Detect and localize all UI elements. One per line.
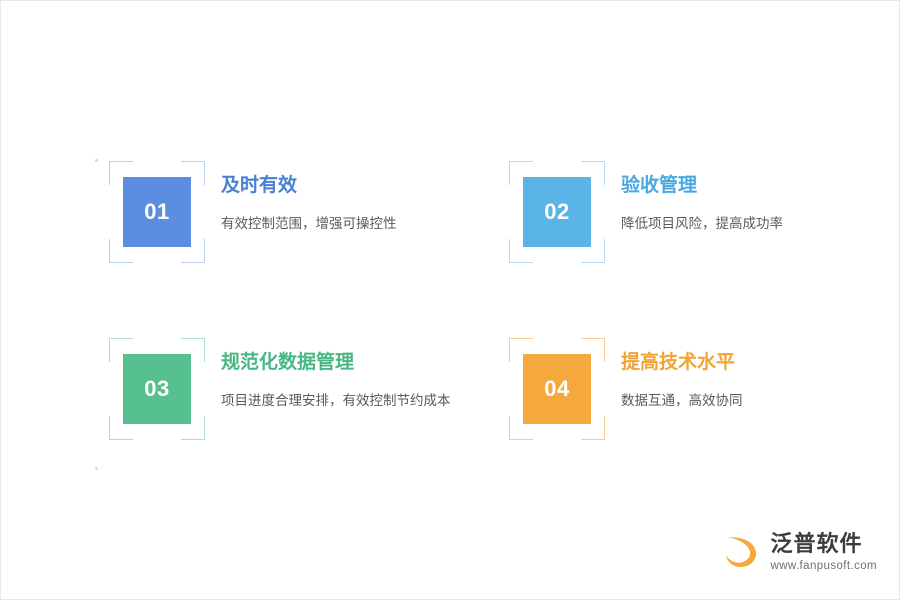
feature-card-03[interactable]: 03 规范化数据管理 项目进度合理安排，有效控制节约成本	[109, 338, 509, 440]
brand-logo-text: 泛普软件 www.fanpusoft.com	[770, 532, 877, 571]
fanpu-logo-icon	[720, 531, 762, 573]
card-text-03: 规范化数据管理 项目进度合理安排，有效控制节约成本	[205, 338, 451, 412]
card-title: 提高技术水平	[621, 352, 743, 375]
badge-frame-03: 03	[109, 338, 205, 440]
card-number-badge: 02	[523, 177, 591, 247]
card-text-01: 及时有效 有效控制范围，增强可操控性	[205, 161, 397, 235]
feature-card-grid: 01 及时有效 有效控制范围，增强可操控性 02 验收管理 降低项目风险，	[109, 161, 869, 440]
card-title: 及时有效	[221, 175, 397, 198]
brand-logo[interactable]: 泛普软件 www.fanpusoft.com	[720, 531, 877, 573]
badge-frame-02: 02	[509, 161, 605, 263]
badge-frame-04: 04	[509, 338, 605, 440]
brand-name: 泛普软件	[770, 532, 877, 556]
feature-card-row-1: 01 及时有效 有效控制范围，增强可操控性 02 验收管理 降低项目风险，	[109, 161, 869, 263]
decorative-dot-bottom-left	[95, 467, 98, 470]
decorative-dot-top-left	[95, 159, 98, 162]
brand-url: www.fanpusoft.com	[770, 560, 877, 572]
card-number-badge: 04	[523, 354, 591, 424]
card-description: 有效控制范围，增强可操控性	[221, 212, 397, 236]
feature-card-04[interactable]: 04 提高技术水平 数据互通，高效协同	[509, 338, 869, 440]
badge-frame-01: 01	[109, 161, 205, 263]
card-description: 项目进度合理安排，有效控制节约成本	[221, 389, 451, 413]
feature-card-row-2: 03 规范化数据管理 项目进度合理安排，有效控制节约成本 04 提高技术水平	[109, 338, 869, 440]
card-number-badge: 01	[123, 177, 191, 247]
card-number-badge: 03	[123, 354, 191, 424]
card-text-04: 提高技术水平 数据互通，高效协同	[605, 338, 743, 412]
feature-card-02[interactable]: 02 验收管理 降低项目风险，提高成功率	[509, 161, 869, 263]
feature-card-01[interactable]: 01 及时有效 有效控制范围，增强可操控性	[109, 161, 509, 263]
card-description: 数据互通，高效协同	[621, 389, 743, 413]
card-title: 验收管理	[621, 175, 783, 198]
card-title: 规范化数据管理	[221, 352, 451, 375]
card-description: 降低项目风险，提高成功率	[621, 212, 783, 236]
slide-canvas: 01 及时有效 有效控制范围，增强可操控性 02 验收管理 降低项目风险，	[0, 0, 900, 600]
card-text-02: 验收管理 降低项目风险，提高成功率	[605, 161, 783, 235]
